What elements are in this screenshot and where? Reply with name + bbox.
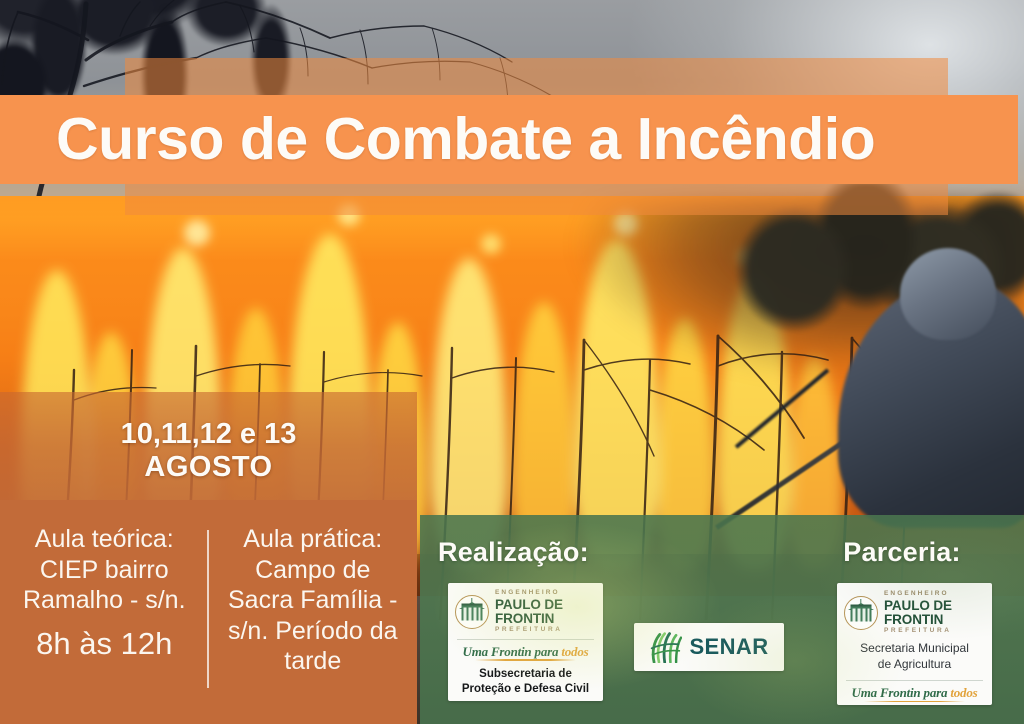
theory-time: 8h às 12h — [36, 625, 172, 662]
practice-line-3: Sacra Família - — [228, 585, 397, 616]
date-days: 10,11,12 e 13 — [0, 418, 417, 451]
parceria-label: Parceria: — [843, 537, 960, 568]
realizacao-group: Realização: — [420, 515, 780, 724]
page-title: Curso de Combate a Incêndio — [0, 110, 875, 169]
practice-line-2: Campo de — [255, 555, 370, 586]
practice-heading: Aula prática: — [243, 524, 382, 555]
column-divider — [207, 530, 209, 688]
practice-line-5: tarde — [284, 646, 341, 677]
realizacao-label: Realização: — [438, 537, 589, 568]
theory-heading: Aula teórica: — [35, 524, 174, 555]
parceria-group: Parceria: — [780, 515, 1024, 724]
column-practice: Aula prática: Campo de Sacra Família - s… — [209, 524, 418, 724]
title-band: Curso de Combate a Incêndio — [0, 95, 1018, 184]
firefighter-head — [900, 248, 996, 340]
practice-line-4: s/n. Período da — [228, 616, 398, 647]
theory-line-2: CIEP bairro — [40, 555, 169, 586]
column-theory: Aula teórica: CIEP bairro Ramalho - s/n.… — [0, 524, 209, 724]
poster-root: Curso de Combate a Incêndio 10,11,12 e 1… — [0, 0, 1024, 724]
date-month: AGOSTO — [0, 451, 417, 484]
partners-panel: Realização: ENGENHEIRO PAULO DE FRONTIN … — [420, 515, 1024, 724]
theory-line-3: Ramalho - s/n. — [23, 585, 186, 616]
course-dates: 10,11,12 e 13 AGOSTO — [0, 418, 417, 484]
